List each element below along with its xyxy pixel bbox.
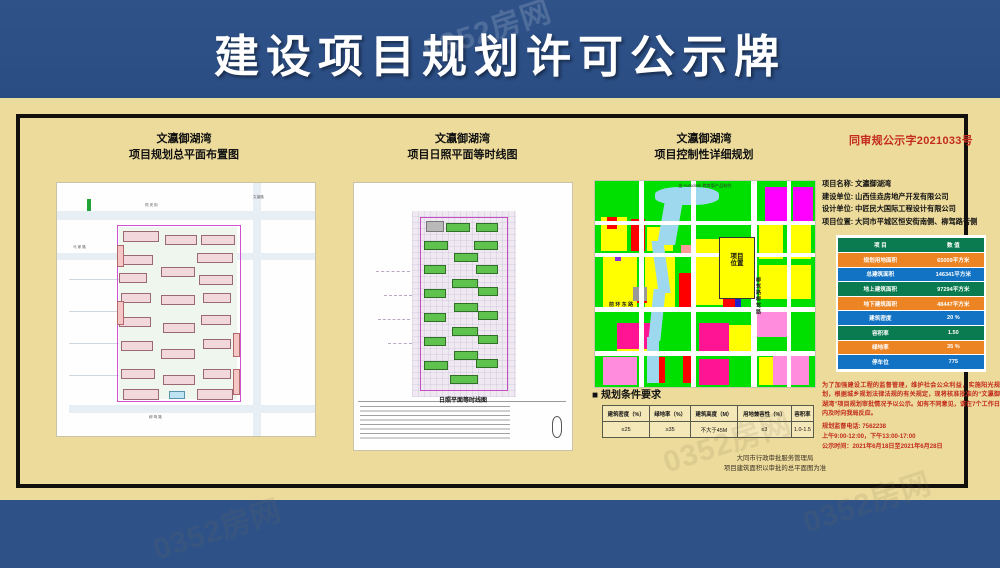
indicator-key: 总建筑面积 bbox=[838, 268, 923, 282]
conditions-val-0: ≤25 bbox=[603, 422, 650, 438]
board-body: 0352房网 0352房网 文瀛御湖湾 项目规划总平面布置图 bbox=[0, 105, 1000, 500]
indicator-key: 绿地率 bbox=[838, 341, 923, 355]
indicator-value: 1.50 bbox=[923, 326, 984, 340]
panel-zoning-plan-title: 文瀛御湖湾 项目控制性详细规划 bbox=[590, 132, 818, 164]
road-label-west: 前 环 东 路 bbox=[609, 301, 633, 308]
publicity-board: 建设项目规划许可公示牌 0352房网 0352房网 0352房网 文瀛御湖湾 项… bbox=[0, 0, 1000, 500]
conditions-col-4: 容积率 bbox=[791, 406, 813, 422]
panel-title-line1: 文瀛御湖湾 bbox=[350, 132, 575, 148]
panel-site-plan: 文瀛御湖湾 项目规划总平面布置图 bbox=[34, 132, 334, 164]
table-row: 建筑密度（%） 绿地率（%） 建筑高度（M） 用地兼容性（%） 容积率 bbox=[603, 406, 814, 422]
conditions-col-2: 建筑高度（M） bbox=[690, 406, 737, 422]
banner-divider bbox=[0, 98, 1000, 105]
table-row: 容积率 1.50 bbox=[838, 326, 984, 340]
conditions-val-2: 不大于45M bbox=[690, 422, 737, 438]
info-sidebar: 同审规公示字2021033号 项目名称: 文瀛御湖湾 建设单位: 山西佳垚房地产… bbox=[822, 132, 1000, 452]
conditions-val-4: 1.0-1.5 bbox=[791, 422, 813, 438]
bullet-square-icon: ■ bbox=[592, 390, 598, 401]
indicator-key: 容积率 bbox=[838, 326, 923, 340]
site-plan-drawing: 恒 安 街 文瀛路 马 家 路 柳 驾 路 bbox=[56, 182, 316, 437]
table-row: 绿地率 35 % bbox=[838, 341, 984, 355]
project-info-developer: 建设单位: 山西佳垚房地产开发有限公司 bbox=[822, 191, 1000, 204]
publicity-period: 公示时间：2021年6月18日至2021年6月28日 bbox=[822, 442, 1000, 452]
permit-number: 同审规公示字2021033号 bbox=[822, 132, 1000, 148]
footer-note: 项目建筑面积以审批的总平面图为准 bbox=[580, 464, 970, 474]
compass-icon bbox=[552, 416, 562, 438]
panel-title-line2: 项目日照平面等时线图 bbox=[350, 148, 575, 164]
panel-title-line1: 文瀛御湖湾 bbox=[34, 132, 334, 148]
table-row: 项 目 数 值 bbox=[838, 238, 984, 252]
indicator-value: 775 bbox=[923, 355, 984, 369]
contact-phone: 规划监督电话: 7562238 bbox=[822, 422, 1000, 432]
indicator-key: 建筑密度 bbox=[838, 311, 923, 325]
panel-title-line2: 项目规划总平面布置图 bbox=[34, 148, 334, 164]
panel-site-plan-title: 文瀛御湖湾 项目规划总平面布置图 bbox=[34, 132, 334, 164]
table-row: 地下建筑面积 48447平方米 bbox=[838, 297, 984, 311]
contact-hours: 上午9:00-12:00，下午13:00-17:00 bbox=[822, 432, 1000, 442]
table-row: 建筑密度 20 % bbox=[838, 311, 984, 325]
indicator-value: 20 % bbox=[923, 311, 984, 325]
sunlight-drawing: 日照平面等时线图 bbox=[353, 182, 573, 451]
conditions-heading: ■规划条件要求 bbox=[592, 386, 814, 401]
planning-conditions: ■规划条件要求 建筑密度（%） 绿地率（%） 建筑高度（M） 用地兼容性（%） … bbox=[592, 386, 814, 438]
road-label-east: 柳 驾 路 柳 驾 路 bbox=[755, 277, 762, 314]
indicator-value: 146341平方米 bbox=[923, 268, 984, 282]
table-row: 停车位 775 bbox=[838, 355, 984, 369]
project-info-list: 项目名称: 文瀛御湖湾 建设单位: 山西佳垚房地产开发有限公司 设计单位: 中匠… bbox=[822, 178, 1000, 228]
indicators-table: 项 目 数 值 规划用地面积 65009平方米 总建筑面积 146341平方米 … bbox=[836, 235, 986, 371]
indicators-header-key: 项 目 bbox=[838, 238, 923, 252]
project-location-label: 项目 位置 bbox=[723, 253, 751, 267]
conditions-col-3: 用地兼容性（%） bbox=[737, 406, 791, 422]
header-banner: 建设项目规划许可公示牌 0352房网 bbox=[0, 0, 1000, 105]
indicator-key: 地上建筑面积 bbox=[838, 282, 923, 296]
conditions-col-0: 建筑密度（%） bbox=[603, 406, 650, 422]
project-info-location: 项目位置: 大同市平城区恒安街南侧、柳驾路否侧 bbox=[822, 216, 1000, 229]
table-row: 总建筑面积 146341平方米 bbox=[838, 268, 984, 282]
conditions-val-3: ≤3 bbox=[737, 422, 791, 438]
conditions-col-1: 绿地率（%） bbox=[650, 406, 691, 422]
conditions-val-1: ≥35 bbox=[650, 422, 691, 438]
conditions-table: 建筑密度（%） 绿地率（%） 建筑高度（M） 用地兼容性（%） 容积率 ≤25 … bbox=[602, 405, 814, 438]
table-row: ≤25 ≥35 不大于45M ≤3 1.0-1.5 bbox=[603, 422, 814, 438]
indicator-key: 停车位 bbox=[838, 355, 923, 369]
footer: 大同市行政审批服务管理局 项目建筑面积以审批的总平面图为准 bbox=[580, 454, 970, 475]
panel-sunlight-plan: 文瀛御湖湾 项目日照平面等时线图 bbox=[350, 132, 575, 164]
project-info-name: 项目名称: 文瀛御湖湾 bbox=[822, 178, 1000, 191]
autodesk-note: 由 Autodesk 教育版产品制作 bbox=[595, 183, 815, 189]
footer-authority: 大同市行政审批服务管理局 bbox=[580, 454, 970, 464]
indicator-value: 97294平方米 bbox=[923, 282, 984, 296]
table-row: 规划用地面积 65009平方米 bbox=[838, 253, 984, 267]
panel-title-line1: 文瀛御湖湾 bbox=[590, 132, 818, 148]
indicator-key: 规划用地面积 bbox=[838, 253, 923, 267]
indicator-value: 48447平方米 bbox=[923, 297, 984, 311]
board-frame: 文瀛御湖湾 项目规划总平面布置图 bbox=[16, 114, 968, 488]
watermark: 0352房网 bbox=[146, 486, 286, 568]
indicator-value: 35 % bbox=[923, 341, 984, 355]
panel-title-line2: 项目控制性详细规划 bbox=[590, 148, 818, 164]
sunlight-caption: 日照平面等时线图 bbox=[354, 395, 572, 404]
contact-info: 规划监督电话: 7562238 上午9:00-12:00，下午13:00-17:… bbox=[822, 422, 1000, 451]
indicator-value: 65009平方米 bbox=[923, 253, 984, 267]
page-title: 建设项目规划许可公示牌 bbox=[214, 20, 786, 85]
zoning-map: 项目 位置 前 环 东 路 柳 驾 路 柳 驾 路 由 Autodesk 教育版… bbox=[594, 180, 816, 388]
panel-sunlight-plan-title: 文瀛御湖湾 项目日照平面等时线图 bbox=[350, 132, 575, 164]
panel-zoning-plan: 文瀛御湖湾 项目控制性详细规划 bbox=[590, 132, 818, 164]
project-info-designer: 设计单位: 中匠民大国际工程设计有限公司 bbox=[822, 203, 1000, 216]
table-row: 地上建筑面积 97294平方米 bbox=[838, 282, 984, 296]
public-notice-text: 为了加强建设工程的监督管理，维护社会公众利益，实施阳光规划，根据城乡规划法律法规… bbox=[822, 381, 1000, 419]
indicators-header-value: 数 值 bbox=[923, 238, 984, 252]
indicator-key: 地下建筑面积 bbox=[838, 297, 923, 311]
